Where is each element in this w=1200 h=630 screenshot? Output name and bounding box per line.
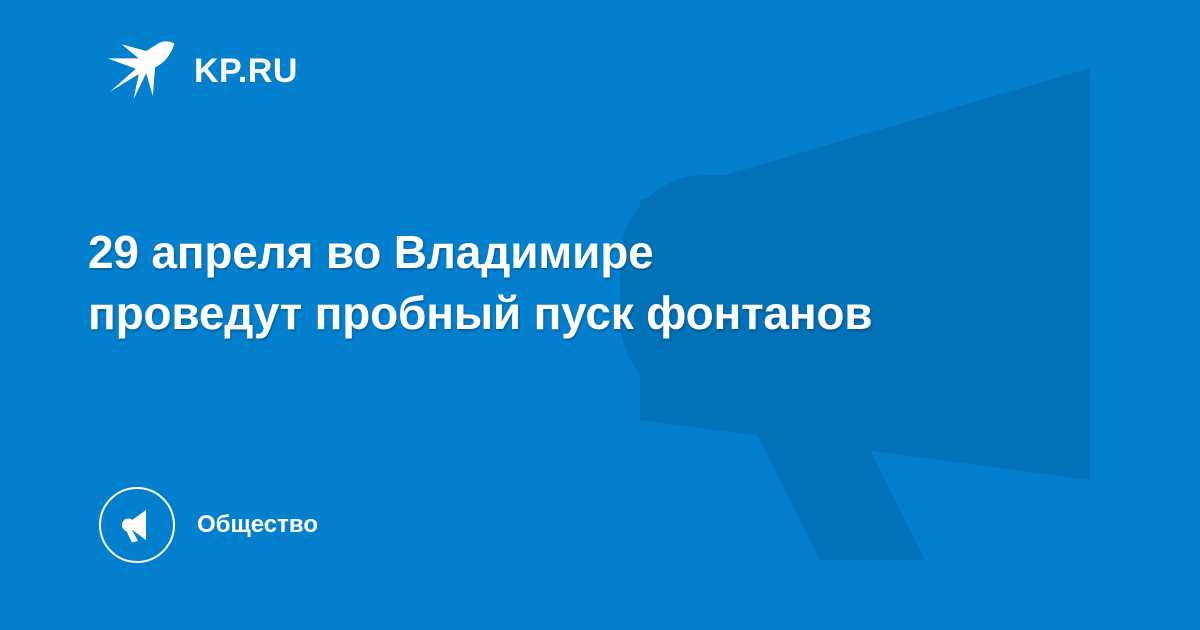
headline-line-2: проведут пробный пуск фонтанов	[88, 283, 1098, 344]
headline-line-1: 29 апреля во Владимире	[88, 222, 1098, 283]
brand-name-text: KP.RU	[194, 54, 298, 88]
category-badge[interactable]: Общество	[99, 487, 318, 563]
category-icon-circle	[99, 487, 175, 563]
category-label: Общество	[197, 513, 318, 537]
brand-logo[interactable]: KP.RU	[104, 34, 298, 108]
social-share-card: KP.RU 29 апреля во Владимире проведут пр…	[0, 0, 1200, 630]
page-title: 29 апреля во Владимире проведут пробный …	[88, 222, 1098, 344]
megaphone-icon	[117, 505, 157, 545]
swallow-bird-icon	[104, 34, 178, 108]
